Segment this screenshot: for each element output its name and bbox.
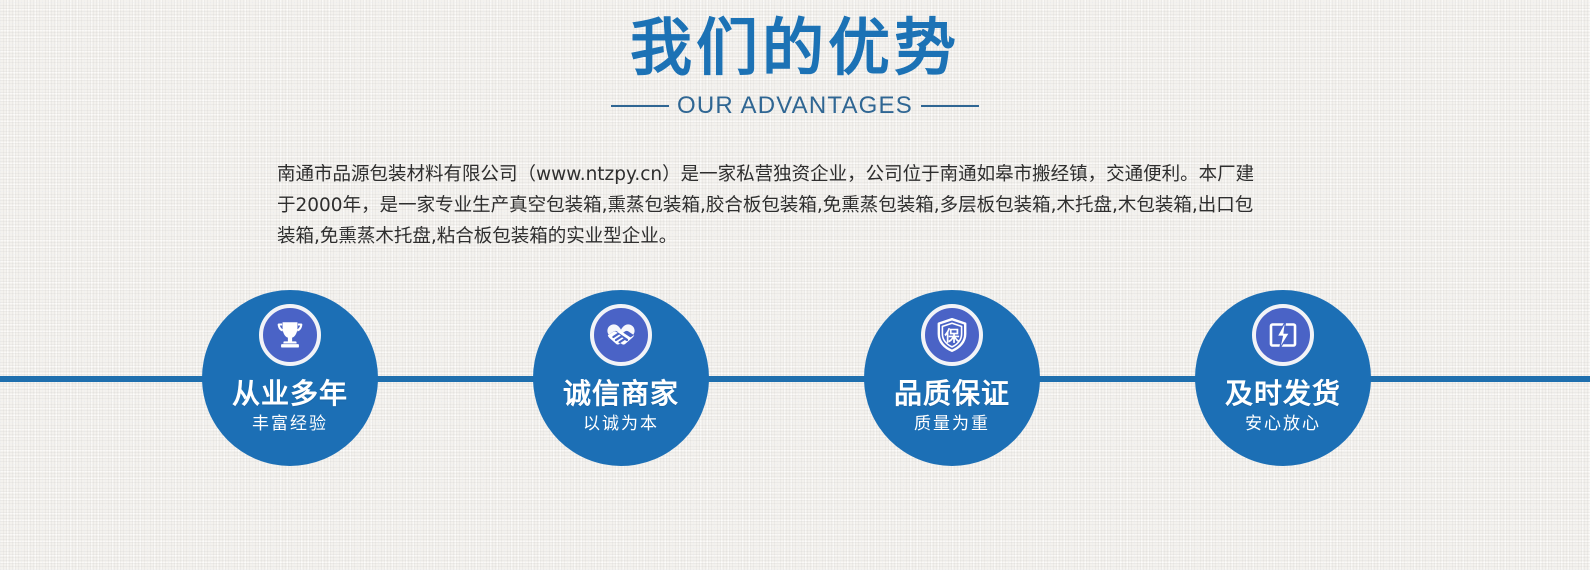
- advantages-banner: 我们的优势 OUR ADVANTAGES 南通市品源包装材料有限公司（www.n…: [0, 0, 1590, 570]
- feature-item-shipping[interactable]: 及时发货 安心放心: [1195, 290, 1371, 466]
- trophy-badge: [259, 304, 321, 366]
- handshake-heart-icon: [603, 318, 639, 352]
- shield-guarantee-icon: 保: [935, 317, 969, 353]
- feature-list: 从业多年 丰富经验 诚信商家 以诚为本: [0, 0, 1590, 570]
- feature-title: 品质保证: [894, 378, 1010, 410]
- feature-item-quality[interactable]: 保 品质保证 质量为重: [864, 290, 1040, 466]
- lightning-badge: [1252, 304, 1314, 366]
- feature-item-integrity[interactable]: 诚信商家 以诚为本: [533, 290, 709, 466]
- feature-title: 及时发货: [1225, 378, 1341, 410]
- feature-item-experience[interactable]: 从业多年 丰富经验: [202, 290, 378, 466]
- feature-title: 从业多年: [232, 378, 348, 410]
- trophy-icon: [273, 318, 307, 352]
- feature-subtitle: 丰富经验: [252, 414, 328, 434]
- feature-subtitle: 质量为重: [914, 414, 990, 434]
- feature-subtitle: 以诚为本: [583, 414, 659, 434]
- shield-glyph: 保: [935, 317, 969, 353]
- handshake-badge: [590, 304, 652, 366]
- lightning-bolt-icon: [1266, 318, 1300, 352]
- feature-subtitle: 安心放心: [1245, 414, 1321, 434]
- feature-title: 诚信商家: [563, 378, 679, 410]
- shield-badge: 保: [921, 304, 983, 366]
